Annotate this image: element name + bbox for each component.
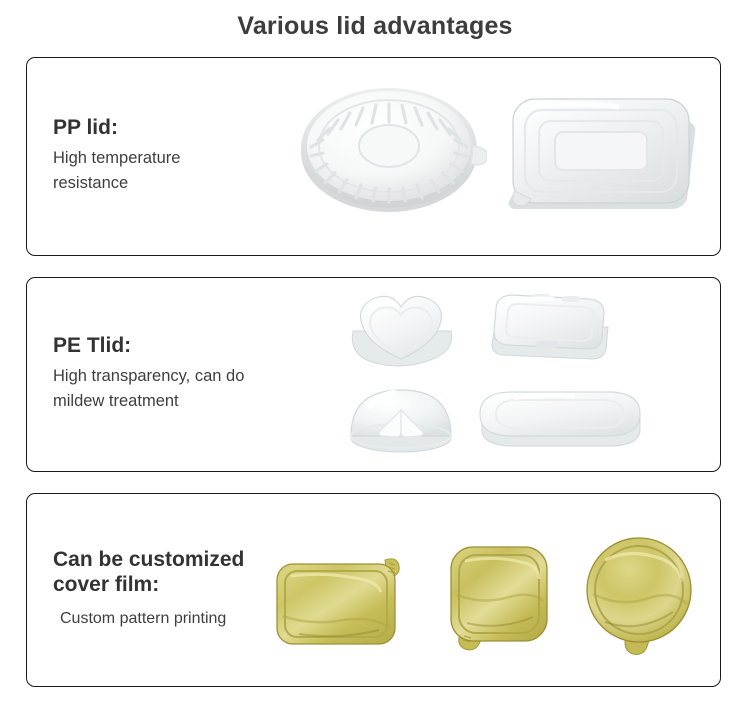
card-pe-lid-description: High transparency, can do mildew treatme… bbox=[53, 364, 259, 415]
card-pe-lid-title: PE Tlid: bbox=[53, 334, 259, 359]
gold-foil-round-lid-image bbox=[579, 532, 704, 662]
pet-oval-flat-lid-image bbox=[474, 386, 649, 456]
card-pp-lid: PP lid: High temperature resistance bbox=[26, 57, 721, 256]
card-pe-lid-media bbox=[259, 278, 720, 471]
card-pp-lid-text: PP lid: High temperature resistance bbox=[27, 116, 259, 197]
card-pp-lid-media bbox=[259, 58, 720, 255]
pet-heart-dome-lid-image bbox=[341, 289, 461, 374]
page-title: Various lid advantages bbox=[0, 0, 750, 43]
card-pe-lid-text: PE Tlid: High transparency, can do milde… bbox=[27, 334, 259, 415]
card-cover-film-media bbox=[259, 494, 720, 686]
card-pp-lid-title: PP lid: bbox=[53, 116, 259, 141]
card-cover-film-title: Can be customized cover film: bbox=[53, 548, 259, 598]
pp-round-vented-lid-image bbox=[297, 80, 487, 215]
card-cover-film-text: Can be customized cover film: Custom pat… bbox=[27, 548, 259, 632]
card-pp-lid-description: High temperature resistance bbox=[53, 146, 259, 197]
lid-advantage-card-list: PP lid: High temperature resistance bbox=[26, 57, 721, 687]
pp-rectangular-lid-image bbox=[499, 91, 699, 216]
gold-foil-rectangular-lid-image bbox=[269, 546, 414, 656]
card-pe-lid: PE Tlid: High transparency, can do milde… bbox=[26, 277, 721, 472]
gold-foil-square-lid-image bbox=[443, 539, 558, 659]
card-cover-film-description: Custom pattern printing bbox=[53, 607, 259, 632]
pet-cup-dome-lid-image bbox=[344, 376, 459, 456]
card-cover-film: Can be customized cover film: Custom pat… bbox=[26, 493, 721, 687]
pet-square-dome-lid-image bbox=[484, 287, 614, 367]
